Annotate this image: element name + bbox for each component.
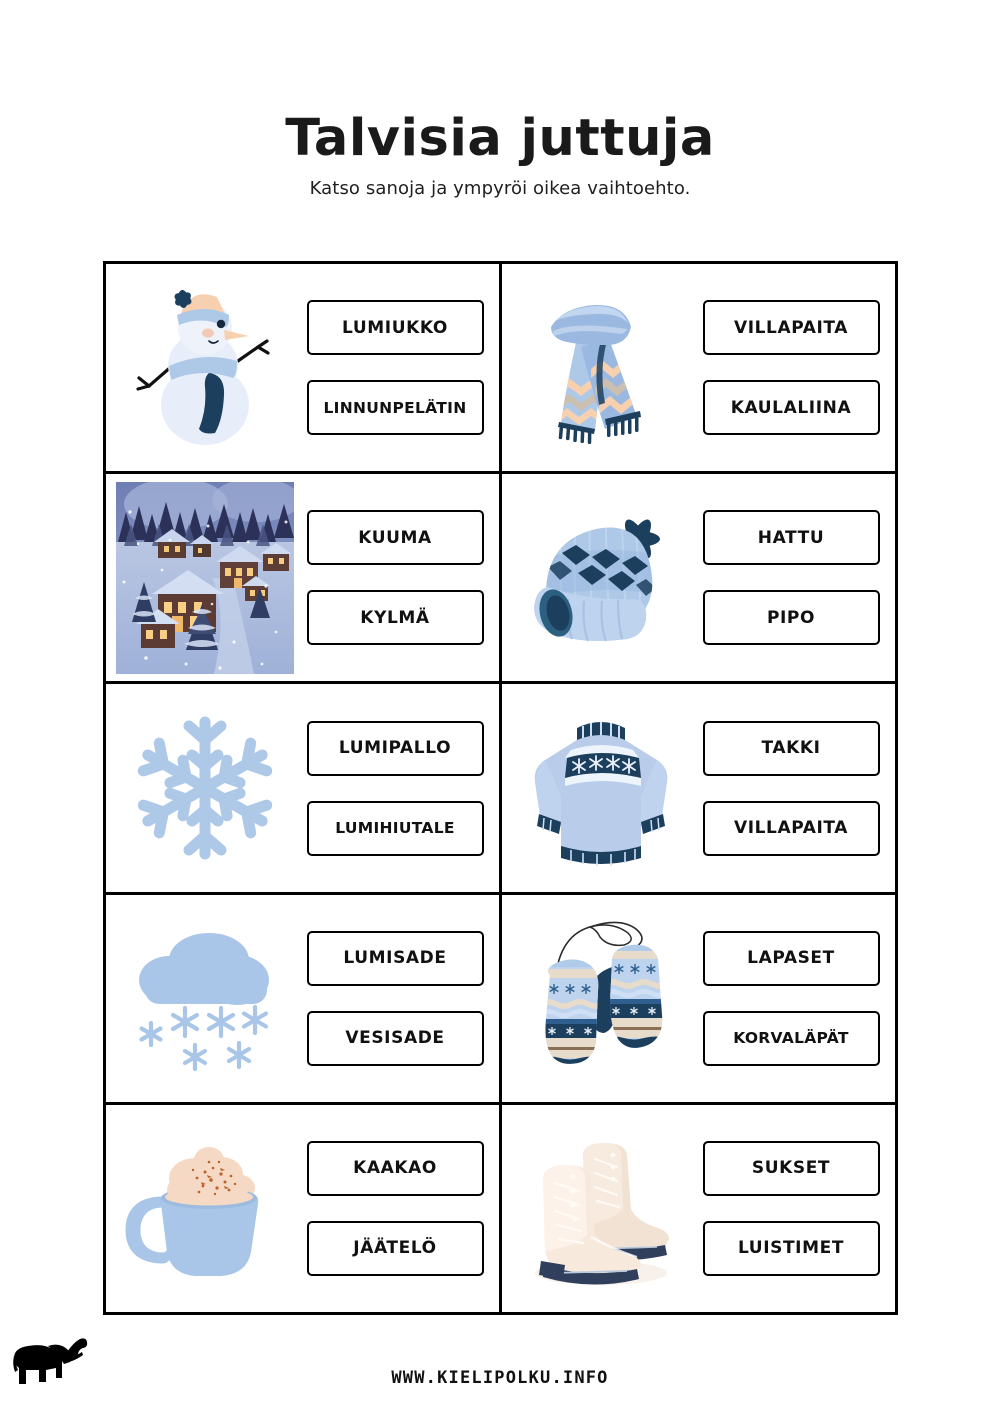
option-button[interactable]: LINNUNPELÄTIN bbox=[307, 380, 484, 435]
scarf-illustration bbox=[508, 264, 693, 471]
option-label: KYLMÄ bbox=[360, 608, 429, 628]
worksheet-row: KAAKAO JÄÄTELÖ bbox=[106, 1105, 895, 1312]
option-label: SUKSET bbox=[752, 1158, 830, 1178]
option-label: LUMIPALLO bbox=[339, 738, 451, 758]
option-label: TAKKI bbox=[761, 738, 820, 758]
page-title: Talvisia juttuja bbox=[0, 112, 1000, 166]
option-label: LAPASET bbox=[747, 948, 835, 968]
page-instructions: Katso sanoja ja ympyröi oikea vaihtoehto… bbox=[0, 178, 1000, 199]
worksheet-cell-snowflake: LUMIPALLO LUMIHIUTALE bbox=[106, 684, 502, 891]
worksheet-cell-snowman: LUMIUKKO LINNUNPELÄTIN bbox=[106, 264, 502, 471]
beanie-hat-illustration bbox=[508, 474, 693, 681]
option-label: LUMISADE bbox=[343, 948, 446, 968]
worksheet-row: LUMISADE VESISADE bbox=[106, 895, 895, 1105]
option-button[interactable]: LUMISADE bbox=[307, 931, 484, 986]
snowman-illustration bbox=[112, 264, 297, 471]
option-button[interactable]: KYLMÄ bbox=[307, 590, 484, 645]
option-label: KAAKAO bbox=[353, 1158, 437, 1178]
winter-village-photo bbox=[112, 474, 297, 681]
option-button[interactable]: HATTU bbox=[703, 510, 880, 565]
sweater-illustration bbox=[508, 684, 693, 891]
option-button[interactable]: VILLAPAITA bbox=[703, 801, 880, 856]
worksheet-cell-snowfall: LUMISADE VESISADE bbox=[106, 895, 502, 1102]
option-button[interactable]: LUMIPALLO bbox=[307, 721, 484, 776]
worksheet-header: Talvisia juttuja Katso sanoja ja ympyröi… bbox=[0, 112, 1000, 199]
option-label: LUMIUKKO bbox=[342, 318, 448, 338]
option-button[interactable]: JÄÄTELÖ bbox=[307, 1221, 484, 1276]
mittens-illustration bbox=[508, 895, 693, 1102]
option-button[interactable]: KAULALIINA bbox=[703, 380, 880, 435]
worksheet-cell-mittens: LAPASET KORVALÄPÄT bbox=[502, 895, 895, 1102]
options-group: SUKSET LUISTIMET bbox=[693, 1141, 889, 1276]
worksheet-row: LUMIUKKO LINNUNPELÄTIN bbox=[106, 264, 895, 474]
ice-skates-illustration bbox=[508, 1105, 693, 1312]
option-button[interactable]: LUMIHIUTALE bbox=[307, 801, 484, 856]
option-button[interactable]: KAAKAO bbox=[307, 1141, 484, 1196]
snow-cloud-illustration bbox=[112, 895, 297, 1102]
hot-cocoa-illustration bbox=[112, 1105, 297, 1312]
options-group: LAPASET KORVALÄPÄT bbox=[693, 931, 889, 1066]
option-label: VESISADE bbox=[345, 1028, 444, 1048]
option-button[interactable]: SUKSET bbox=[703, 1141, 880, 1196]
option-button[interactable]: LAPASET bbox=[703, 931, 880, 986]
worksheet-row: KUUMA KYLMÄ bbox=[106, 474, 895, 684]
option-label: HATTU bbox=[758, 528, 824, 548]
option-button[interactable]: KORVALÄPÄT bbox=[703, 1011, 880, 1066]
option-label: KORVALÄPÄT bbox=[733, 1029, 849, 1047]
option-button[interactable]: LUISTIMET bbox=[703, 1221, 880, 1276]
options-group: TAKKI VILLAPAITA bbox=[693, 721, 889, 856]
options-group: LUMIPALLO LUMIHIUTALE bbox=[297, 721, 493, 856]
options-group: LUMIUKKO LINNUNPELÄTIN bbox=[297, 300, 493, 435]
option-label: LUISTIMET bbox=[738, 1238, 844, 1258]
worksheet-cell-cocoa: KAAKAO JÄÄTELÖ bbox=[106, 1105, 502, 1312]
option-label: VILLAPAITA bbox=[734, 818, 848, 838]
options-group: KUUMA KYLMÄ bbox=[297, 510, 493, 645]
option-label: KAULALIINA bbox=[731, 398, 851, 418]
options-group: LUMISADE VESISADE bbox=[297, 931, 493, 1066]
option-label: KUUMA bbox=[358, 528, 432, 548]
option-button[interactable]: LUMIUKKO bbox=[307, 300, 484, 355]
option-button[interactable]: PIPO bbox=[703, 590, 880, 645]
option-label: JÄÄTELÖ bbox=[353, 1238, 436, 1258]
options-group: VILLAPAITA KAULALIINA bbox=[693, 300, 889, 435]
snowflake-illustration bbox=[112, 684, 297, 891]
option-button[interactable]: KUUMA bbox=[307, 510, 484, 565]
worksheet-cell-sweater: TAKKI VILLAPAITA bbox=[502, 684, 895, 891]
elephant-logo bbox=[12, 1332, 92, 1402]
worksheet-cell-winter-village: KUUMA KYLMÄ bbox=[106, 474, 502, 681]
worksheet-cell-beanie: HATTU PIPO bbox=[502, 474, 895, 681]
option-label: PIPO bbox=[767, 608, 815, 628]
worksheet-grid: LUMIUKKO LINNUNPELÄTIN bbox=[103, 261, 898, 1315]
option-label: VILLAPAITA bbox=[734, 318, 848, 338]
option-label: LINNUNPELÄTIN bbox=[324, 399, 467, 417]
option-label: LUMIHIUTALE bbox=[335, 819, 455, 837]
worksheet-row: LUMIPALLO LUMIHIUTALE bbox=[106, 684, 895, 894]
options-group: HATTU PIPO bbox=[693, 510, 889, 645]
option-button[interactable]: TAKKI bbox=[703, 721, 880, 776]
option-button[interactable]: VESISADE bbox=[307, 1011, 484, 1066]
options-group: KAAKAO JÄÄTELÖ bbox=[297, 1141, 493, 1276]
worksheet-cell-scarf: VILLAPAITA KAULALIINA bbox=[502, 264, 895, 471]
option-button[interactable]: VILLAPAITA bbox=[703, 300, 880, 355]
worksheet-cell-skates: SUKSET LUISTIMET bbox=[502, 1105, 895, 1312]
footer-url: WWW.KIELIPOLKU.INFO bbox=[0, 1368, 1000, 1388]
